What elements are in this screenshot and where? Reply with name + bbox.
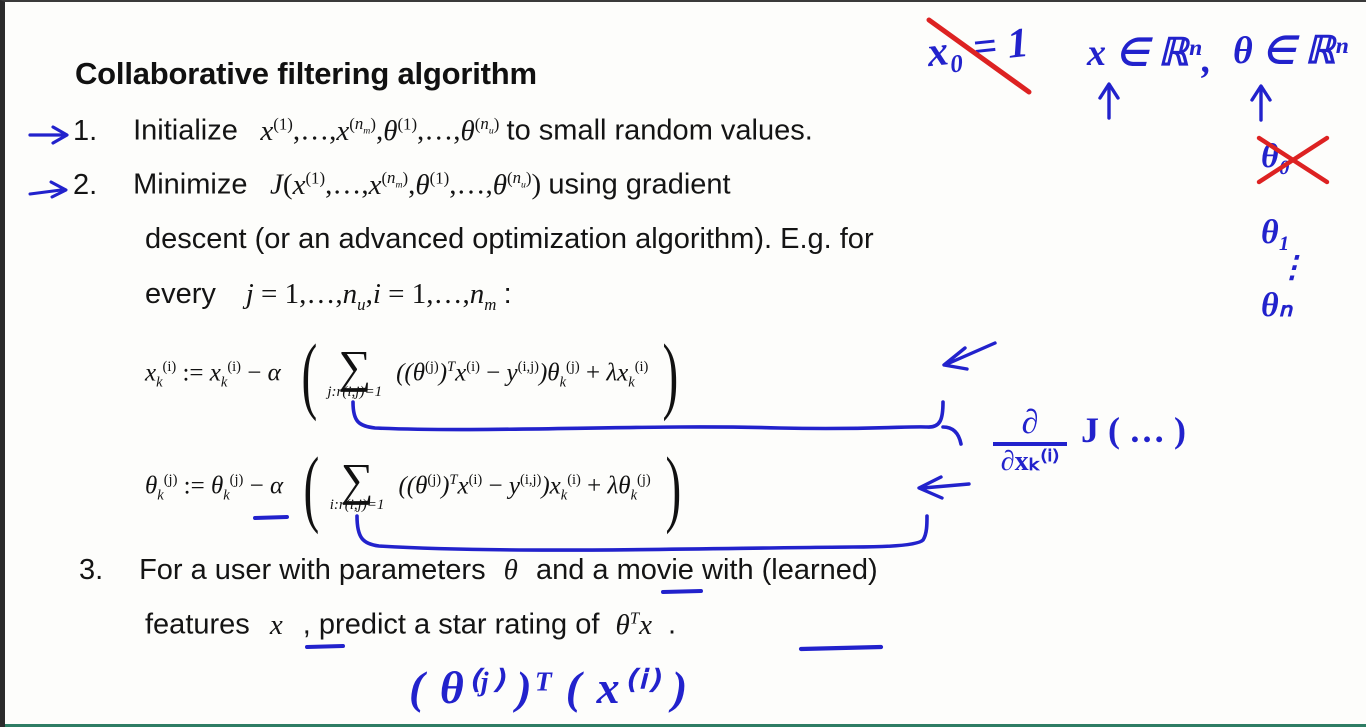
arrow-to-equation-theta-icon: [913, 474, 975, 506]
underbrace-equation-theta-icon: [353, 514, 933, 558]
step-2-line-3-prefix: every: [145, 278, 216, 310]
equation-x-sum-subscript: j:r(i,j)=1: [327, 384, 382, 401]
annotation-theta-1: θ₁: [1261, 214, 1291, 252]
underbrace-equation-x-icon: [349, 400, 949, 444]
arrow-to-step-1-icon: [29, 122, 75, 148]
step-3-x: x: [258, 609, 295, 641]
step-2-verb: Minimize: [133, 169, 247, 201]
step-3-text-a: For a user with parameters: [139, 554, 486, 586]
step-2-line-3: every j = 1,…,nu,i = 1,…,nm :: [145, 279, 512, 314]
arrow-to-step-2-icon: [29, 178, 75, 204]
annotation-partial-J: J ( … ): [1081, 409, 1186, 451]
equation-x-close-paren: ): [663, 344, 679, 406]
step-1-verb: Initialize: [133, 115, 238, 147]
step-3-text-b: and a movie with (learned): [536, 554, 878, 586]
annotation-partial-denominator: ∂xₖ⁽ⁱ⁾: [1001, 448, 1060, 476]
annotation-vertical-dots: ⋮: [1277, 250, 1307, 285]
step-2-number: 2.: [73, 170, 125, 201]
step-3-number: 3.: [79, 555, 131, 586]
equation-theta-update: θk(j) := θk(j) − α ( ∑ i:r(i,j)=1 ((θ(j)…: [145, 457, 687, 519]
step-1-tail: to small random values.: [507, 115, 813, 147]
slide-canvas: Collaborative filtering algorithm 1. Ini…: [0, 0, 1366, 727]
step-3-period: .: [668, 609, 676, 641]
step-3-line-1: 3. For a user with parameters θ and a mo…: [73, 555, 878, 586]
underline-step3-theta-icon: [661, 588, 709, 598]
step-2-index-range: j = 1,…,nu,i = 1,…,nm: [224, 278, 504, 310]
step-3-text-d: , predict a star rating of: [303, 609, 600, 641]
page-title: Collaborative filtering algorithm: [75, 56, 537, 92]
step-3-theta: θ: [494, 554, 528, 586]
step-3-prediction: θTx: [607, 609, 659, 641]
equation-theta-summation: ∑ i:r(i,j)=1: [330, 462, 385, 514]
step-2-line-2: descent (or an advanced optimization alg…: [145, 224, 874, 255]
sigma-icon: ∑: [338, 349, 371, 386]
underline-step3-x-icon: [305, 643, 351, 653]
equation-x-open-paren: (: [301, 344, 317, 406]
annotation-theta-in-Rn: θ ∈ ℝⁿ: [1233, 28, 1348, 73]
equation-theta-close-paren: ): [665, 457, 681, 519]
equation-theta-open-paren: (: [304, 457, 320, 519]
step-3-text-c: features: [145, 609, 250, 641]
annotation-theta-n: θₙ: [1261, 285, 1292, 325]
equation-x-body: ((θ(j))Tx(i) − y(i,j))θk(j) + λxk(i): [396, 359, 648, 391]
annotation-theta-0: θ₀: [1261, 138, 1291, 176]
annotation-partial-numerator: ∂: [1022, 406, 1039, 440]
underline-step3-prediction-icon: [799, 644, 887, 654]
equation-x-summation: ∑ j:r(i,j)=1: [327, 349, 382, 401]
annotation-partial-derivative: ∂ ∂xₖ⁽ⁱ⁾ J ( … ): [993, 406, 1186, 476]
step-2-line-1: 2. Minimize J(x(1),…,x(nm),θ(1),…,θ(nu))…: [73, 169, 731, 201]
annotation-x0-equals-1: x₀ = 1: [925, 19, 1031, 77]
equation-x-update: xk(i) := xk(i) − α ( ∑ j:r(i,j)=1 ((θ(j)…: [145, 344, 685, 406]
equation-x-update-lhs: xk(i) := xk(i) − α: [145, 359, 281, 391]
step-1-number: 1.: [73, 116, 125, 147]
sigma-icon: ∑: [341, 462, 374, 499]
step-2-colon: :: [504, 278, 512, 310]
annotation-x-in-Rn: x ∈ ℝⁿ: [1087, 30, 1201, 75]
arrow-up-to-x-icon: [1095, 80, 1129, 120]
equation-theta-update-lhs: θk(j) := θk(j) − α: [145, 472, 283, 504]
annotation-bottom-formula: ( θ⁽ʲ⁾ )ᵀ ( x⁽ⁱ⁾ ): [409, 660, 689, 714]
equation-theta-sum-subscript: i:r(i,j)=1: [330, 497, 385, 514]
step-2-cost-function: J(x(1),…,x(nm),θ(1),…,θ(nu)): [256, 169, 549, 201]
arrow-to-equation-x-icon: [937, 340, 1001, 374]
annotation-comma: ,: [1202, 38, 1212, 82]
step-1-math: x(1),…,x(nm),θ(1),…,θ(nu): [246, 115, 507, 147]
arrow-up-to-theta-icon: [1247, 82, 1281, 122]
equation-theta-body: ((θ(j))Tx(i) − y(i,j))xk(i) + λθk(j): [398, 472, 650, 504]
step-3-line-2: features x , predict a star rating of θT…: [145, 609, 676, 641]
step-1: 1. Initialize x(1),…,x(nm),θ(1),…,θ(nu) …: [73, 115, 813, 147]
step-2-tail: using gradient: [548, 169, 730, 201]
